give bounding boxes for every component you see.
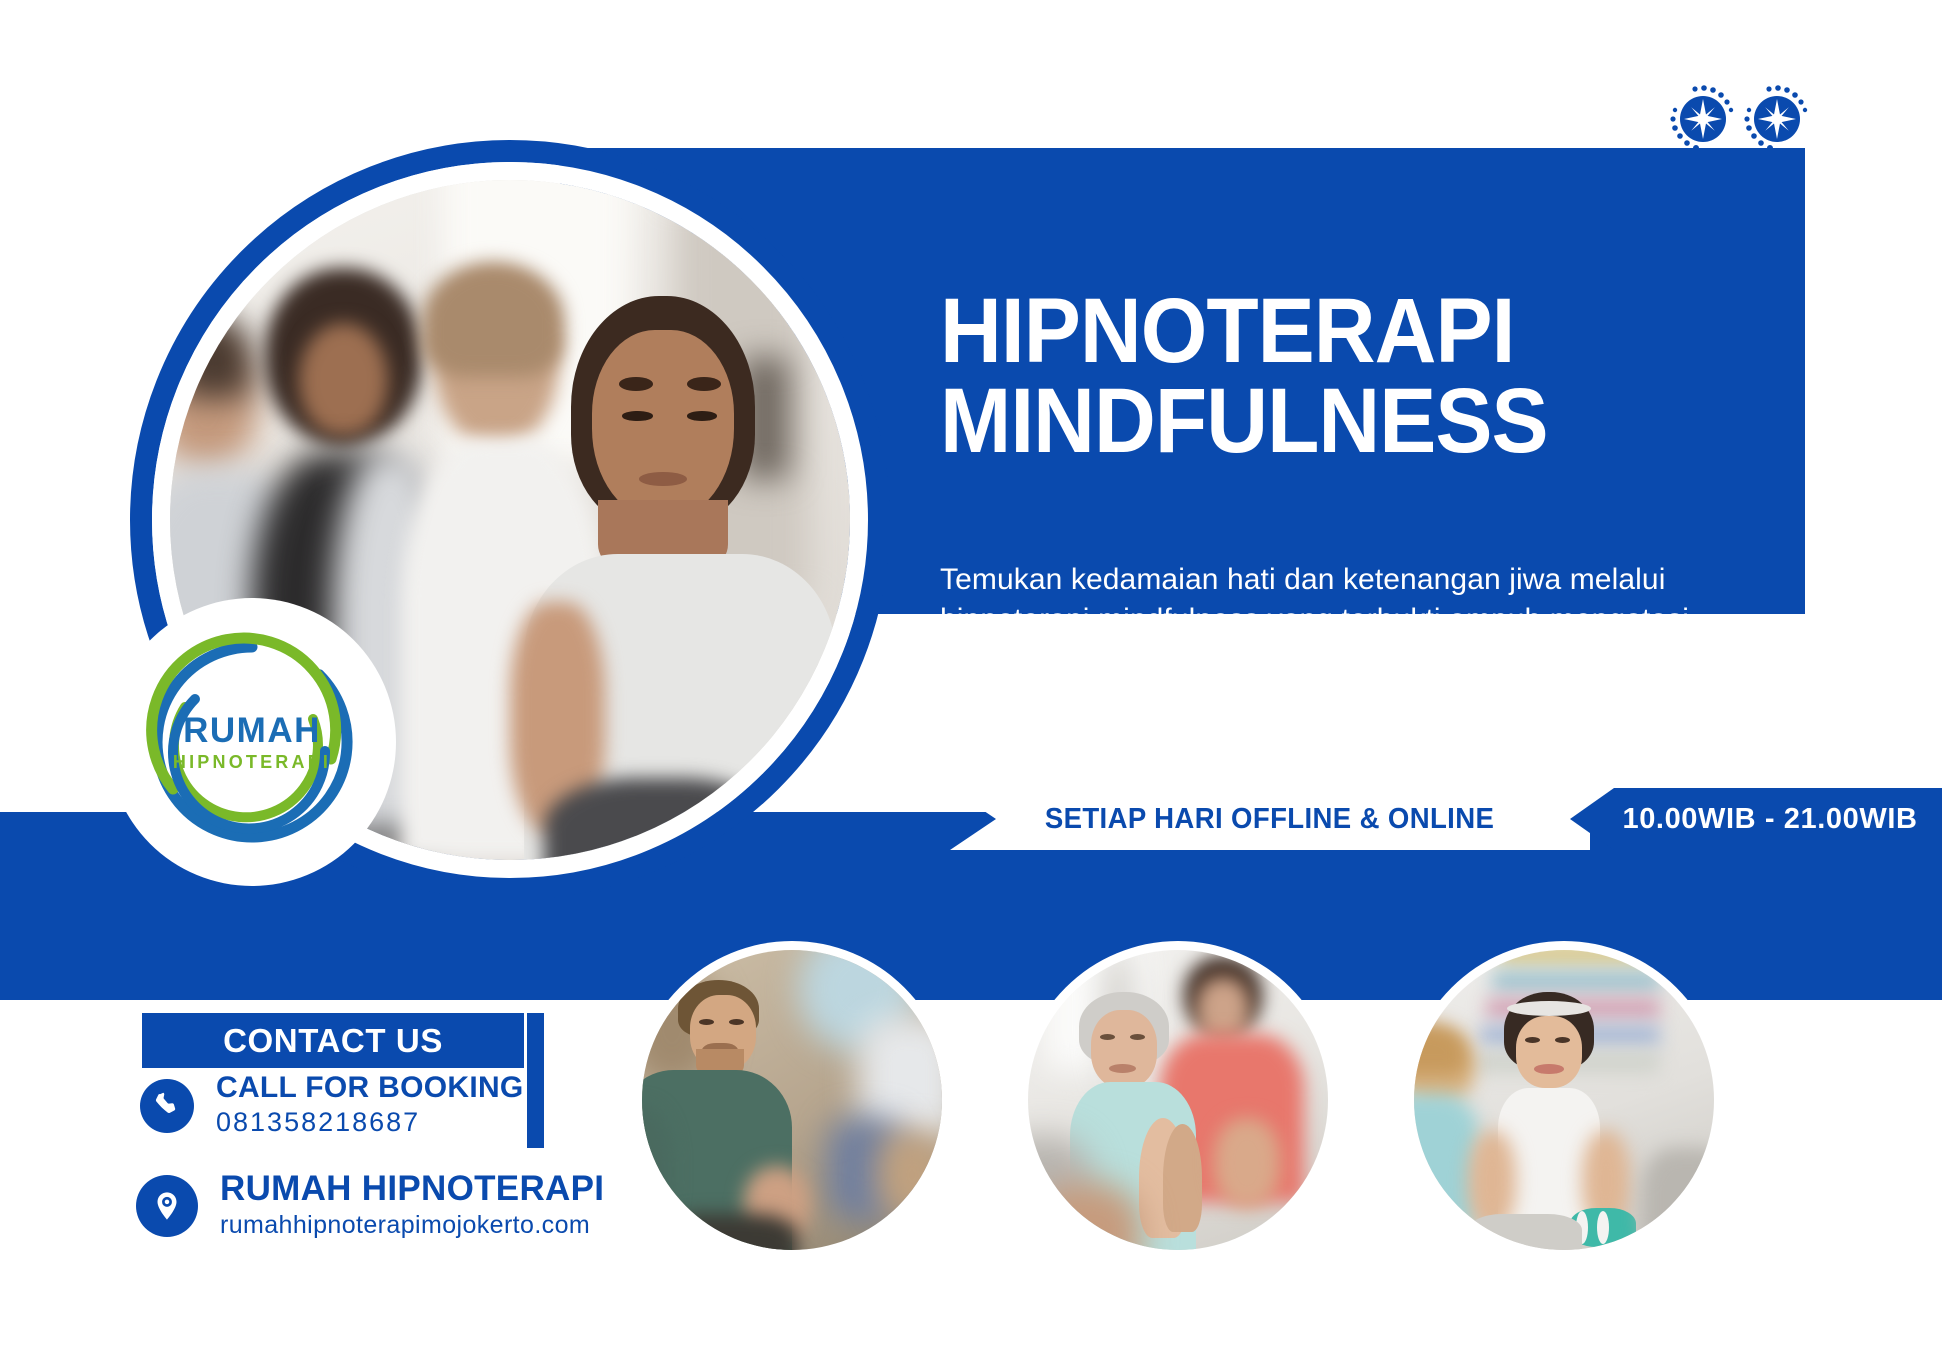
- logo-primary-text: RUMAH: [139, 713, 365, 748]
- phone-icon: [140, 1079, 194, 1133]
- hero-description: Temukan kedamaian hati dan ketenangan ji…: [940, 560, 1740, 681]
- contact-divider: [527, 1013, 544, 1148]
- gallery-photo-2: [1028, 950, 1328, 1250]
- page-title: HIPNOTERAPI MINDFULNESS: [940, 286, 1740, 466]
- contact-place-label: RUMAH HIPNOTERAPI: [220, 1170, 604, 1208]
- gallery-photo-1: [642, 950, 942, 1250]
- contact-place-row[interactable]: RUMAH HIPNOTERAPI rumahhipnoterapimojoke…: [136, 1170, 604, 1241]
- schedule-days-label: SETIAP HARI OFFLINE & ONLINE: [1045, 803, 1494, 836]
- contact-phone-label: CALL FOR BOOKING: [216, 1072, 524, 1104]
- poster-canvas: RUMAH HIPNOTERAPI HIPNOTERAPI MINDFULNES…: [0, 0, 1942, 1371]
- contact-heading-label: CONTACT US: [223, 1022, 443, 1060]
- contact-website-value[interactable]: rumahhipnoterapimojokerto.com: [220, 1210, 604, 1241]
- title-line-2: MINDFULNESS: [940, 376, 1740, 466]
- schedule-hours-banner: 10.00WIB - 21.00WIB: [1570, 788, 1942, 850]
- title-line-1: HIPNOTERAPI: [940, 286, 1740, 376]
- contact-phone-value[interactable]: 081358218687: [216, 1106, 524, 1140]
- brand-logo: RUMAH HIPNOTERAPI: [118, 608, 386, 876]
- schedule-hours-label: 10.00WIB - 21.00WIB: [1594, 803, 1917, 836]
- contact-heading-banner: CONTACT US: [142, 1013, 524, 1068]
- contact-phone-row[interactable]: CALL FOR BOOKING 081358218687: [140, 1072, 524, 1140]
- logo-secondary-text: HIPNOTERAPI: [139, 753, 365, 771]
- location-pin-icon: [136, 1175, 198, 1237]
- gallery-photo-3: [1414, 950, 1714, 1250]
- schedule-days-banner: SETIAP HARI OFFLINE & ONLINE: [950, 788, 1590, 850]
